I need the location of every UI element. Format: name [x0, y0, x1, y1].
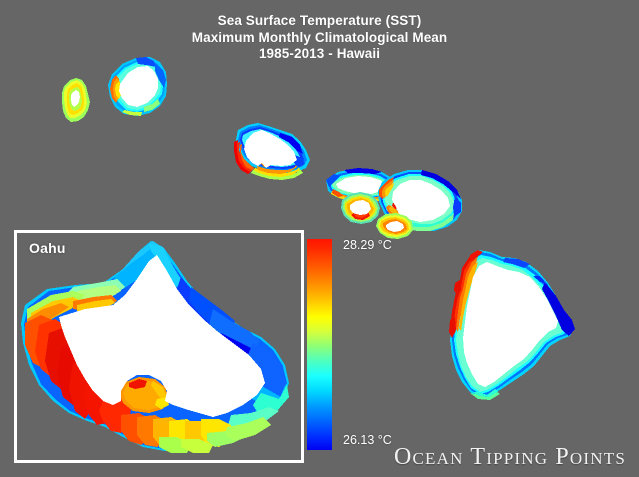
oahu-inset-label: Oahu	[29, 240, 66, 256]
oahu-inset-svg	[17, 233, 301, 460]
island-oahu-main	[234, 123, 310, 180]
oahu-inset-panel: Oahu	[14, 230, 304, 463]
colorbar-legend: 28.29 °C 26.13 °C	[307, 239, 487, 454]
island-kauai	[108, 57, 167, 116]
ocean-tipping-points-logo: Ocean Tipping Points	[374, 444, 626, 470]
colorbar-max-label: 28.29 °C	[343, 238, 392, 252]
island-niihau	[62, 78, 90, 122]
sst-map-figure: Sea Surface Temperature (SST) Maximum Mo…	[0, 0, 639, 477]
colorbar-gradient	[307, 239, 332, 450]
